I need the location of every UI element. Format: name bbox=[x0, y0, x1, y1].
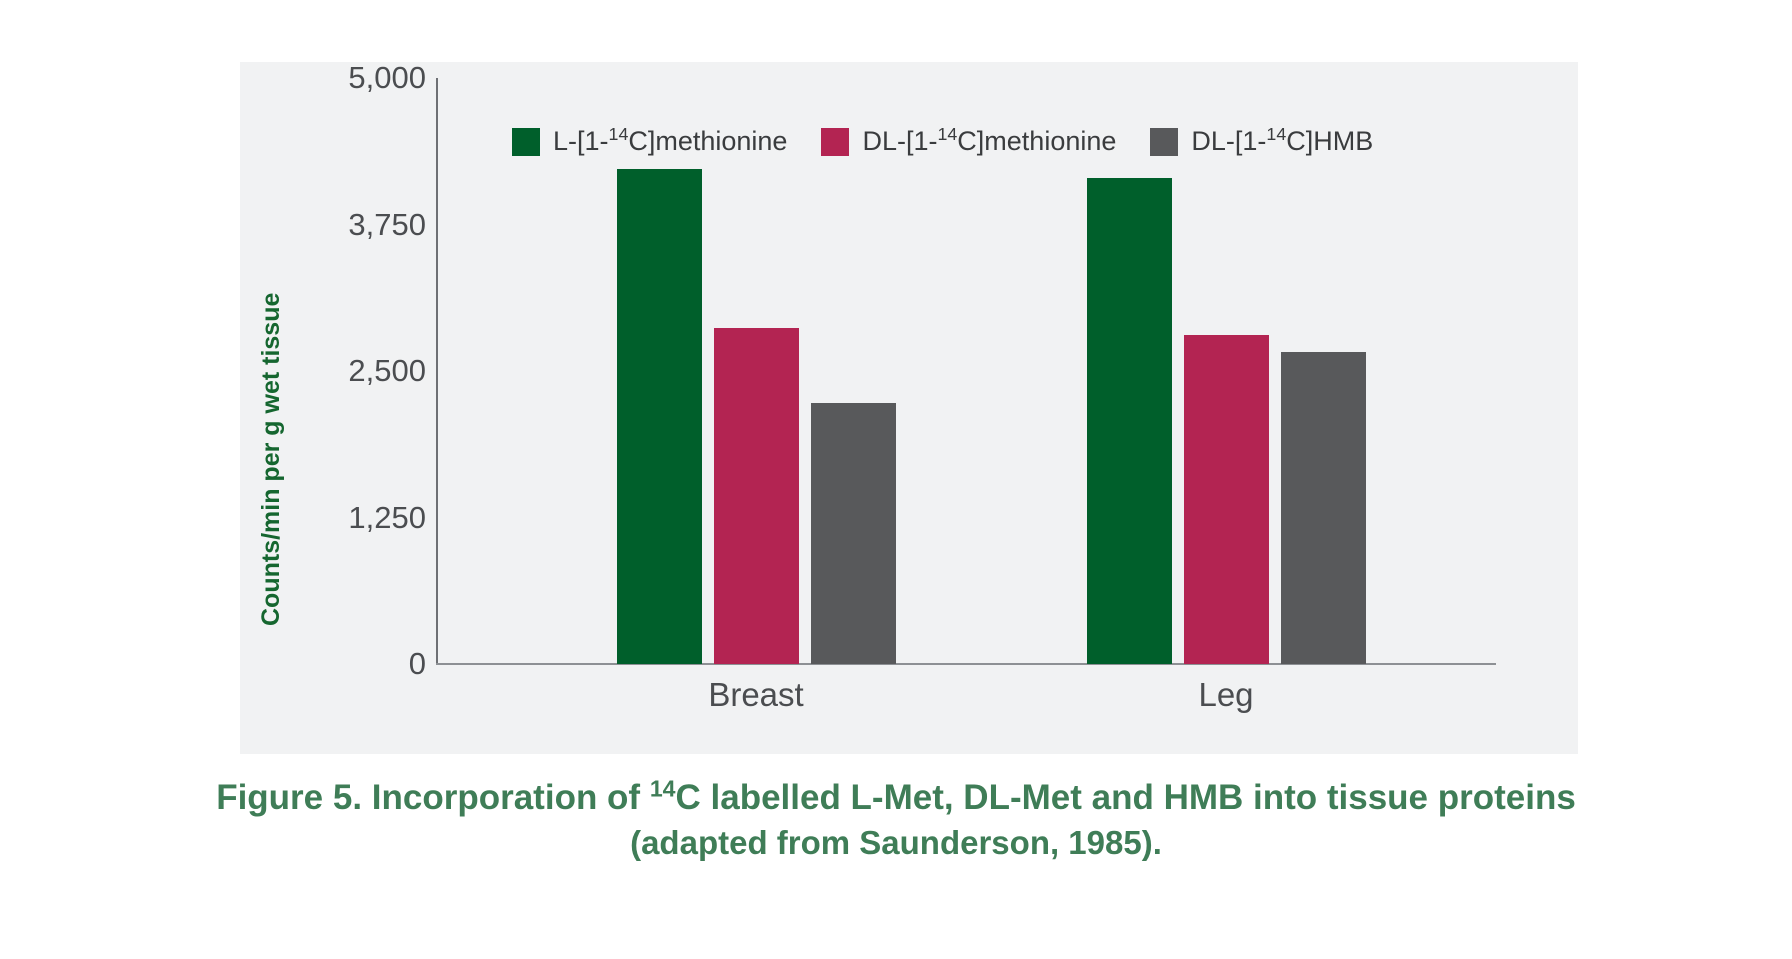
y-axis-tick-label: 3,750 bbox=[226, 207, 426, 243]
bar-leg-series-3 bbox=[1281, 352, 1366, 664]
y-axis-tick-label: 2,500 bbox=[226, 353, 426, 389]
caption-line-1: Figure 5. Incorporation of 14C labelled … bbox=[0, 775, 1792, 821]
figure-caption: Figure 5. Incorporation of 14C labelled … bbox=[0, 775, 1792, 865]
bar-group-container bbox=[436, 78, 1496, 664]
caption-line-2: (adapted from Saunderson, 1985). bbox=[0, 821, 1792, 865]
y-axis-tick-label: 5,000 bbox=[226, 60, 426, 96]
bar-breast-series-1 bbox=[617, 169, 702, 664]
bar-leg-series-2 bbox=[1184, 335, 1269, 664]
bar-leg-series-1 bbox=[1087, 178, 1172, 664]
plot-area: 01,2502,5003,7505,000 BreastLeg bbox=[436, 78, 1496, 680]
chart-panel: Counts/min per g wet tissue L-[1-14C]met… bbox=[240, 62, 1578, 754]
x-axis-label-leg: Leg bbox=[1076, 676, 1376, 714]
x-axis-label-breast: Breast bbox=[606, 676, 906, 714]
bar-breast-series-3 bbox=[811, 403, 896, 664]
bar-breast-series-2 bbox=[714, 328, 799, 664]
y-axis-title: Counts/min per g wet tissue bbox=[257, 293, 286, 626]
figure-page: Counts/min per g wet tissue L-[1-14C]met… bbox=[0, 0, 1792, 959]
y-axis-tick-label: 1,250 bbox=[226, 500, 426, 536]
y-axis-tick-label: 0 bbox=[226, 646, 426, 682]
